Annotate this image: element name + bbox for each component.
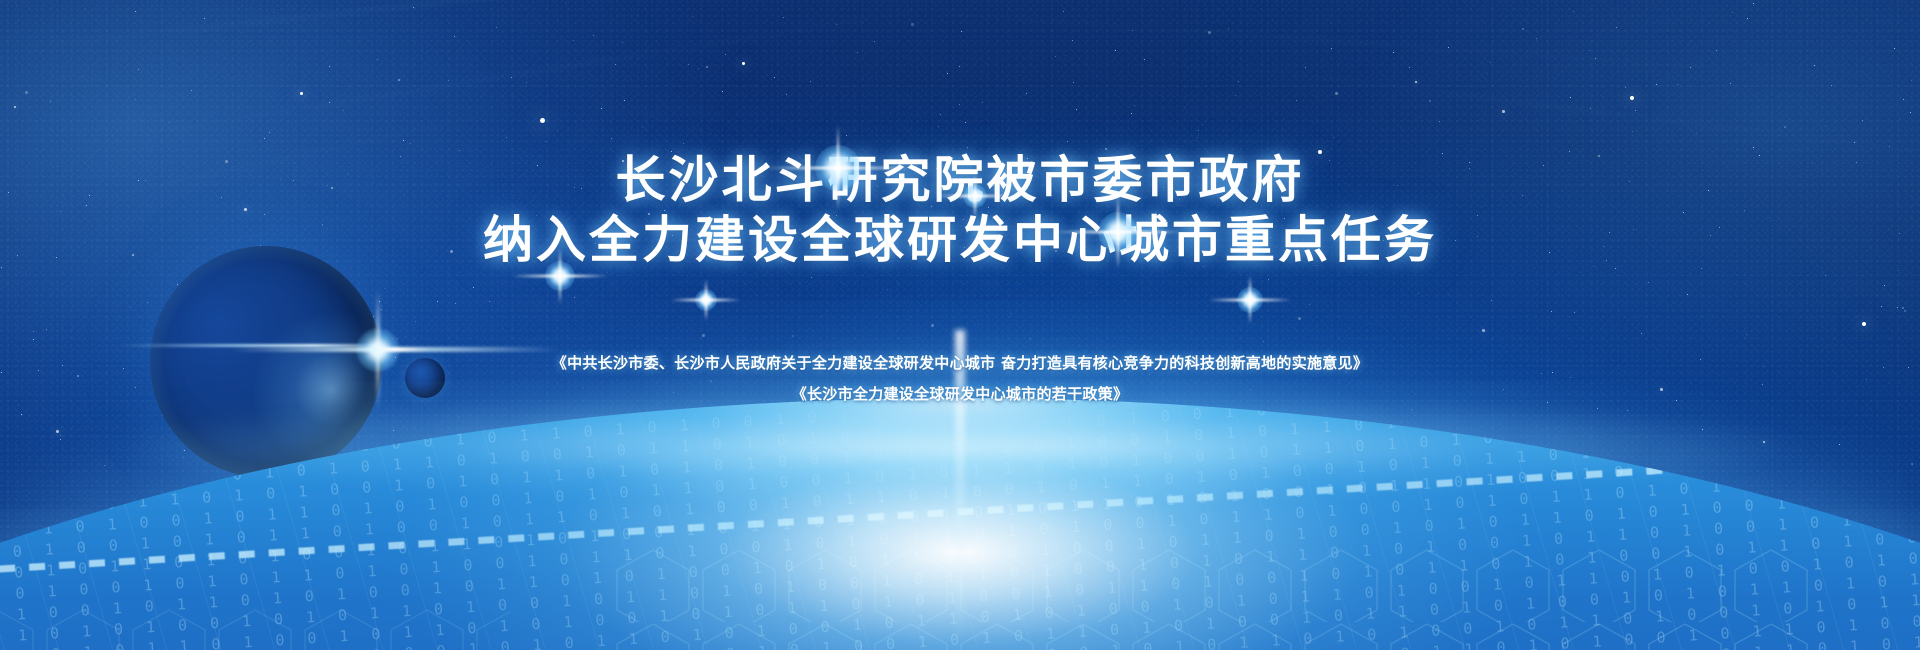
banner-content: 长沙北斗研究院被市委市政府 纳入全力建设全球研发中心城市重点任务 《中共长沙市委…	[0, 0, 1920, 650]
subtitle-line-1: 《中共长沙市委、长沙市人民政府关于全力建设全球研发中心城市 奋力打造具有核心竞争…	[0, 348, 1920, 379]
banner-hero: 0 1 0 1 1 0 1 0 0 1 0 1 0 1 0 1 1 0 1 0 …	[0, 0, 1920, 650]
title-line-2: 纳入全力建设全球研发中心城市重点任务	[0, 210, 1920, 270]
title-line-1: 长沙北斗研究院被市委市政府	[0, 150, 1920, 210]
banner-subtitle: 《中共长沙市委、长沙市人民政府关于全力建设全球研发中心城市 奋力打造具有核心竞争…	[0, 348, 1920, 410]
subtitle-line-2: 《长沙市全力建设全球研发中心城市的若干政策》	[0, 379, 1920, 410]
page-title: 长沙北斗研究院被市委市政府 纳入全力建设全球研发中心城市重点任务	[0, 150, 1920, 270]
